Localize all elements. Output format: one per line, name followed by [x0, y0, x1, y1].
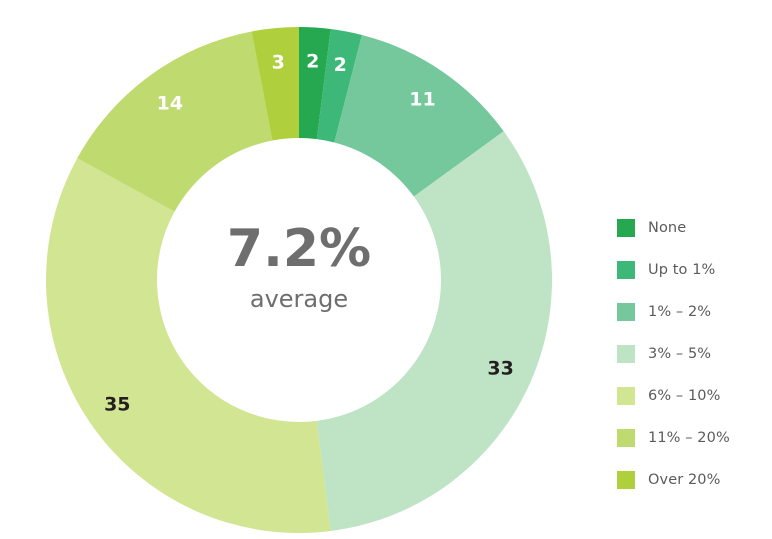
legend-item-label: 11% – 20%	[648, 430, 730, 446]
legend-item[interactable]: Up to 1%	[617, 249, 767, 291]
donut-slice-value-label: 3	[272, 51, 285, 73]
legend-item[interactable]: 3% – 5%	[617, 333, 767, 375]
legend-color-swatch	[617, 387, 635, 405]
donut-slice-value-label: 35	[104, 394, 130, 416]
legend-item-label: 6% – 10%	[648, 388, 721, 404]
legend-item[interactable]: 11% – 20%	[617, 417, 767, 459]
donut-slice[interactable]	[46, 158, 331, 533]
donut-slice-value-label: 14	[157, 92, 183, 114]
donut-slice-value-label: 2	[334, 54, 347, 76]
donut-slice-value-label: 33	[487, 357, 513, 379]
donut-slice[interactable]	[317, 131, 552, 531]
donut-slice-value-label: 11	[409, 88, 435, 110]
legend-item-label: 3% – 5%	[648, 346, 711, 362]
chart-legend: NoneUp to 1%1% – 2%3% – 5%6% – 10%11% – …	[617, 207, 767, 501]
legend-color-swatch	[617, 471, 635, 489]
legend-item-label: Up to 1%	[648, 262, 715, 278]
legend-color-swatch	[617, 429, 635, 447]
legend-item-label: 1% – 2%	[648, 304, 711, 320]
legend-color-swatch	[617, 219, 635, 237]
legend-color-swatch	[617, 261, 635, 279]
legend-item[interactable]: None	[617, 207, 767, 249]
legend-item-label: None	[648, 220, 686, 236]
donut-slice-value-label: 2	[306, 51, 319, 73]
donut-center-caption: average	[250, 285, 348, 313]
legend-color-swatch	[617, 345, 635, 363]
legend-item[interactable]: Over 20%	[617, 459, 767, 501]
legend-color-swatch	[617, 303, 635, 321]
legend-item[interactable]: 1% – 2%	[617, 291, 767, 333]
donut-chart: 22113335143 7.2% average NoneUp to 1%1% …	[0, 0, 772, 539]
donut-slices	[46, 27, 552, 533]
legend-item-label: Over 20%	[648, 472, 721, 488]
donut-center-value: 7.2%	[227, 219, 371, 279]
legend-item[interactable]: 6% – 10%	[617, 375, 767, 417]
